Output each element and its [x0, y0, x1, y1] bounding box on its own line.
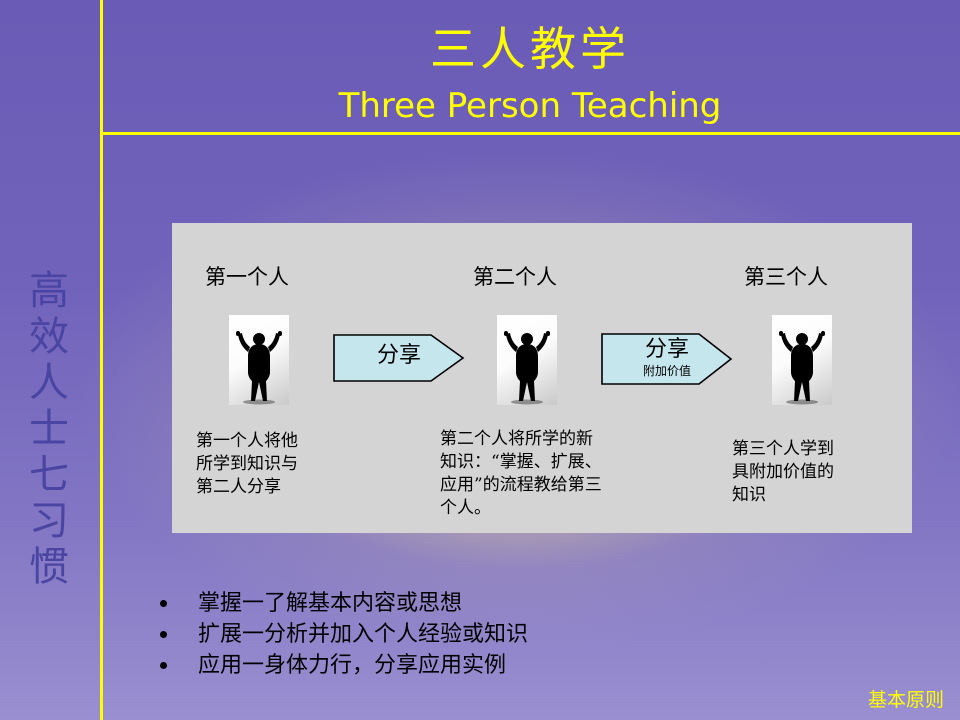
- bullet-item-2: 扩展一分析并加入个人经验或知识: [155, 619, 855, 650]
- description-third-person: 第三个人学到 具附加价值的 知识: [732, 438, 922, 507]
- description-line: 第一个人将他: [196, 430, 386, 453]
- sidebar-char-1: 高: [18, 268, 80, 314]
- sidebar-char-6: 习: [18, 498, 80, 544]
- bullet-dot-icon: [160, 600, 167, 607]
- description-line: 具附加价值的: [732, 461, 922, 484]
- share-arrow-2: 分享 附加价值: [601, 331, 733, 387]
- bullet-dot-icon: [160, 662, 167, 669]
- column-heading-third-person: 第三个人: [744, 264, 828, 290]
- sidebar-char-2: 效: [18, 314, 80, 360]
- bullet-item-label: 掌握一了解基本内容或思想: [155, 588, 855, 619]
- person-figure-3: [772, 315, 832, 405]
- person-arms-raised-icon: [229, 315, 289, 405]
- footer-label: 基本原则: [868, 688, 944, 712]
- horizontal-rule: [100, 132, 960, 135]
- description-line: 第二个人将所学的新: [440, 428, 650, 451]
- description-first-person: 第一个人将他 所学到知识与 第二人分享: [196, 430, 386, 499]
- slide-canvas: 三人教学 Three Person Teaching 高 效 人 士 七 习 惯…: [0, 0, 960, 720]
- description-line: 应用”的流程教给第三: [440, 474, 650, 497]
- bullet-item-3: 应用一身体力行，分享应用实例: [155, 650, 855, 681]
- sidebar-char-4: 士: [18, 406, 80, 452]
- person-figure-2: [497, 315, 557, 405]
- sidebar-char-3: 人: [18, 360, 80, 406]
- bullet-item-label: 应用一身体力行，分享应用实例: [155, 650, 855, 681]
- person-figure-1: [229, 315, 289, 405]
- slide-title-chinese: 三人教学: [100, 22, 960, 76]
- column-heading-second-person: 第二个人: [473, 264, 557, 290]
- description-line: 知识: [732, 484, 922, 507]
- bullet-dot-icon: [160, 631, 167, 638]
- person-arms-raised-icon: [497, 315, 557, 405]
- sidebar-vertical-text: 高 效 人 士 七 习 惯: [18, 268, 80, 590]
- sidebar-char-7: 惯: [18, 544, 80, 590]
- sidebar-char-5: 七: [18, 452, 80, 498]
- description-line: 个人。: [440, 497, 650, 520]
- description-second-person: 第二个人将所学的新 知识：“掌握、扩展、 应用”的流程教给第三 个人。: [440, 428, 650, 520]
- description-line: 知识：“掌握、扩展、: [440, 451, 650, 474]
- column-heading-first-person: 第一个人: [205, 264, 289, 290]
- person-arms-raised-icon: [772, 315, 832, 405]
- bullet-item-1: 掌握一了解基本内容或思想: [155, 588, 855, 619]
- description-line: 第三个人学到: [732, 438, 922, 461]
- share-arrow-1: 分享: [333, 331, 465, 385]
- right-arrow-shape-icon: [601, 331, 733, 387]
- slide-title-english: Three Person Teaching: [100, 86, 960, 126]
- bullet-item-label: 扩展一分析并加入个人经验或知识: [155, 619, 855, 650]
- description-line: 所学到知识与: [196, 453, 386, 476]
- description-line: 第二人分享: [196, 476, 386, 499]
- right-arrow-shape-icon: [333, 331, 465, 385]
- bullet-list: 掌握一了解基本内容或思想 扩展一分析并加入个人经验或知识 应用一身体力行，分享应…: [155, 588, 855, 681]
